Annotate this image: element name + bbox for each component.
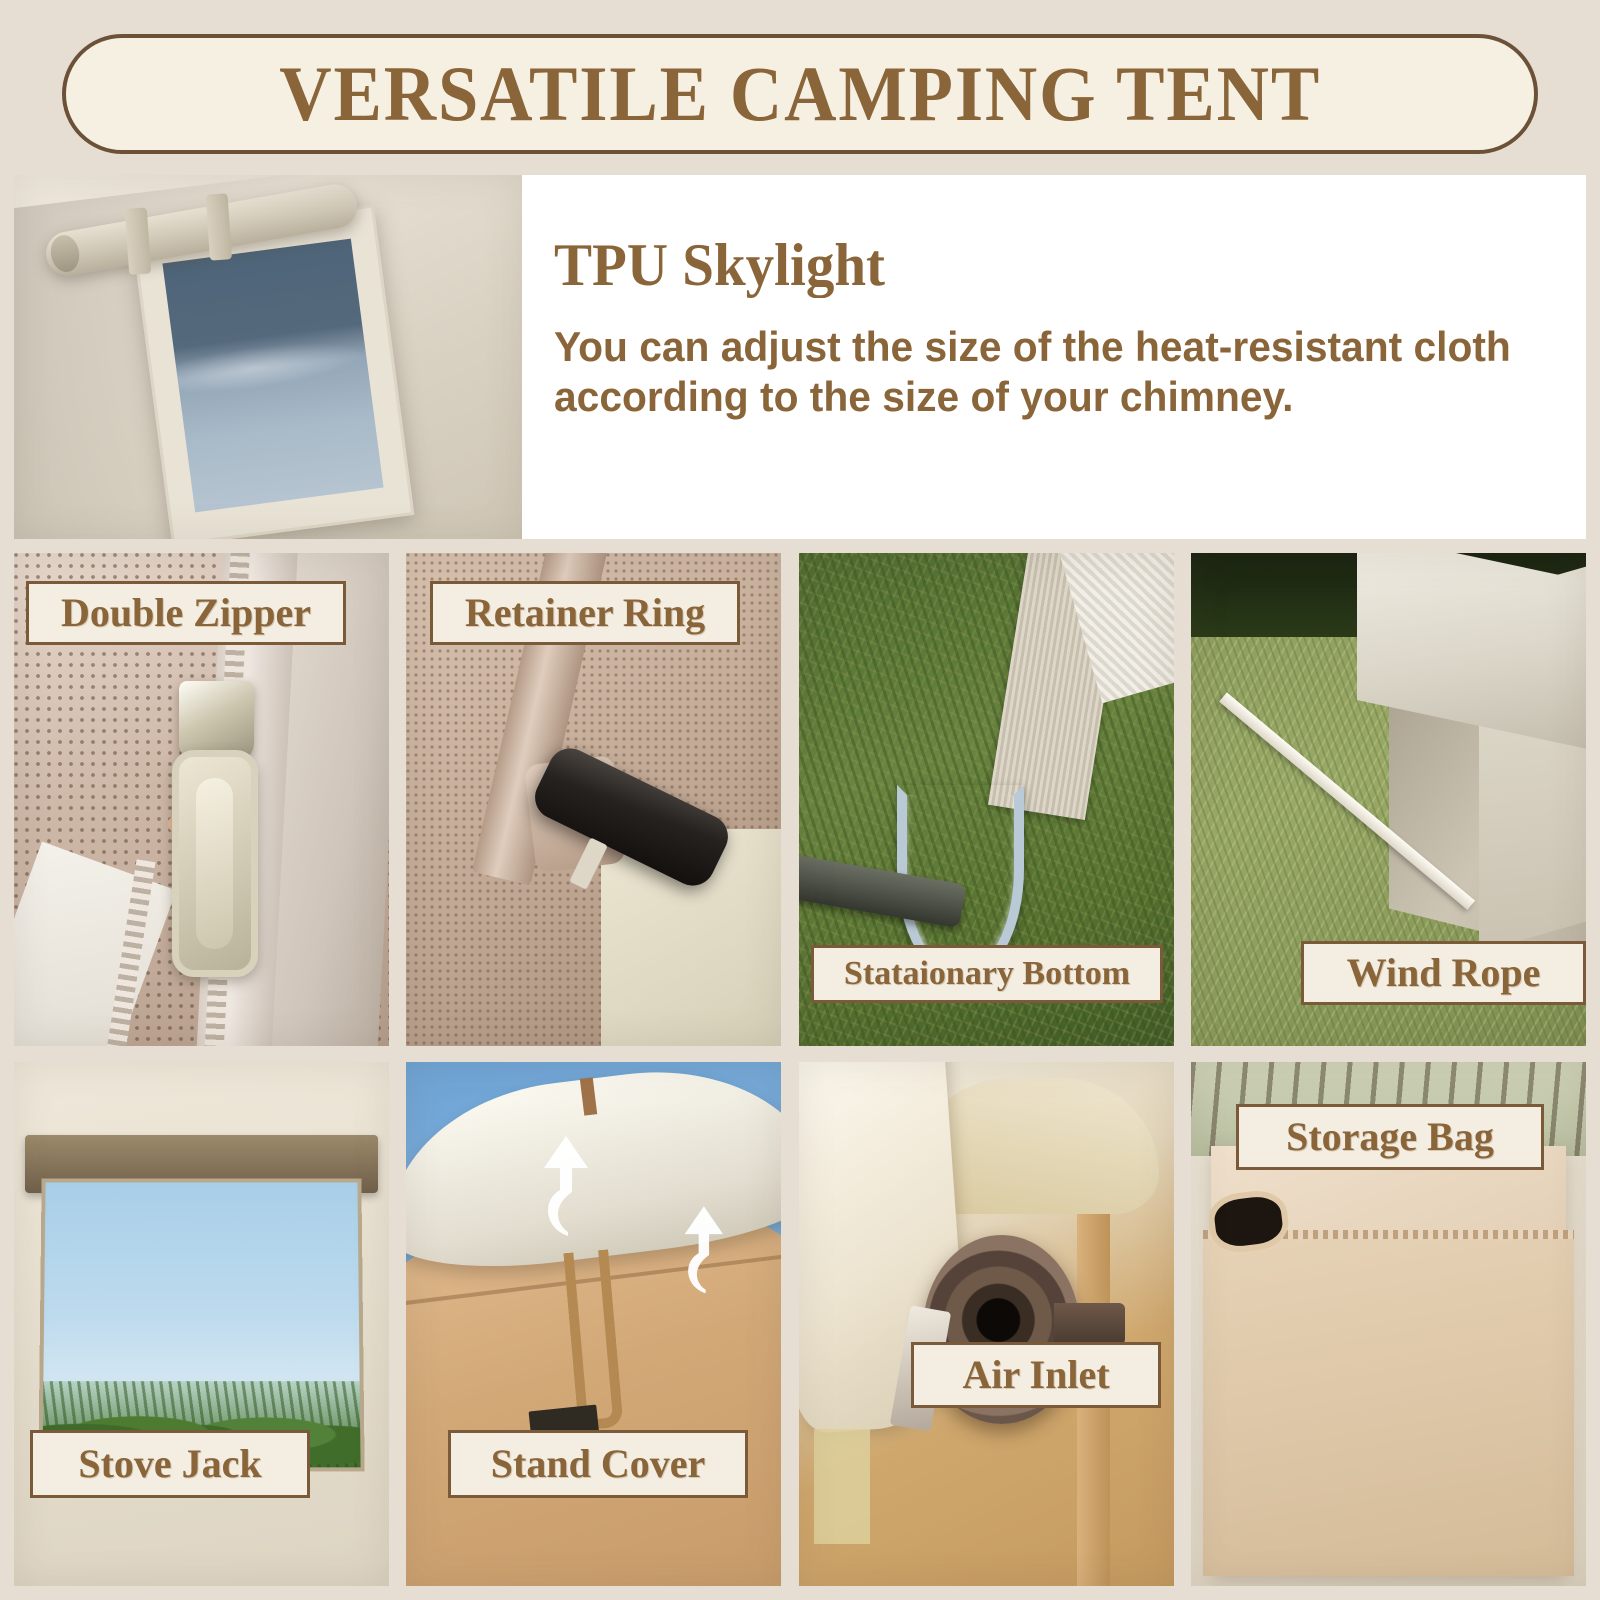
feature-label-text: Stataionary Bottom xyxy=(844,956,1130,992)
feature-label-text: Stand Cover xyxy=(491,1443,705,1485)
hero-description: You can adjust the size of the heat-resi… xyxy=(554,322,1526,421)
infographic-page: VERSATILE CAMPING TENT TPU Skylight You … xyxy=(0,0,1600,1600)
stove-jack-photo xyxy=(14,1062,389,1586)
feature-label-text: Retainer Ring xyxy=(465,592,705,634)
airflow-arrow-up-left-icon xyxy=(534,1132,596,1236)
feature-tile-stand-cover: Stand Cover xyxy=(406,1062,781,1586)
feature-tile-retainer-ring: Retainer Ring xyxy=(406,553,781,1046)
feature-tile-storage-bag: Storage Bag xyxy=(1191,1062,1586,1586)
tpu-skylight-photo xyxy=(14,175,522,539)
hero-image-tpu-skylight xyxy=(14,175,522,539)
airflow-arrow-up-right-icon xyxy=(676,1202,730,1294)
feature-tile-air-inlet: Air Inlet xyxy=(799,1062,1174,1586)
feature-label-double-zipper: Double Zipper xyxy=(26,581,346,645)
feature-label-air-inlet: Air Inlet xyxy=(911,1342,1161,1408)
feature-label-text: Wind Rope xyxy=(1347,952,1541,994)
hero-heading: TPU Skylight xyxy=(554,231,1506,300)
feature-label-storage-bag: Storage Bag xyxy=(1236,1104,1544,1170)
feature-label-wind-rope: Wind Rope xyxy=(1301,941,1586,1005)
page-title: VERSATILE CAMPING TENT xyxy=(279,55,1321,133)
feature-label-retainer-ring: Retainer Ring xyxy=(430,581,740,645)
feature-tile-wind-rope: Wind Rope xyxy=(1191,553,1586,1046)
header-banner: VERSATILE CAMPING TENT xyxy=(62,34,1538,154)
feature-label-stand-cover: Stand Cover xyxy=(448,1430,748,1498)
feature-tile-stove-jack: Stove Jack xyxy=(14,1062,389,1586)
feature-label-text: Storage Bag xyxy=(1286,1116,1494,1158)
feature-label-stove-jack: Stove Jack xyxy=(30,1430,310,1498)
air-inlet-photo xyxy=(799,1062,1174,1586)
hero-text-panel: TPU Skylight You can adjust the size of … xyxy=(522,175,1586,539)
header-pill: VERSATILE CAMPING TENT xyxy=(62,34,1538,154)
feature-label-text: Double Zipper xyxy=(61,592,311,634)
feature-tile-double-zipper: Double Zipper xyxy=(14,553,389,1046)
feature-label-text: Air Inlet xyxy=(962,1354,1109,1396)
feature-label-text: Stove Jack xyxy=(78,1443,261,1485)
stand-cover-photo xyxy=(406,1062,781,1586)
feature-tile-stataionary-bottom: Stataionary Bottom xyxy=(799,553,1174,1046)
feature-label-stataionary-bottom: Stataionary Bottom xyxy=(811,945,1163,1003)
